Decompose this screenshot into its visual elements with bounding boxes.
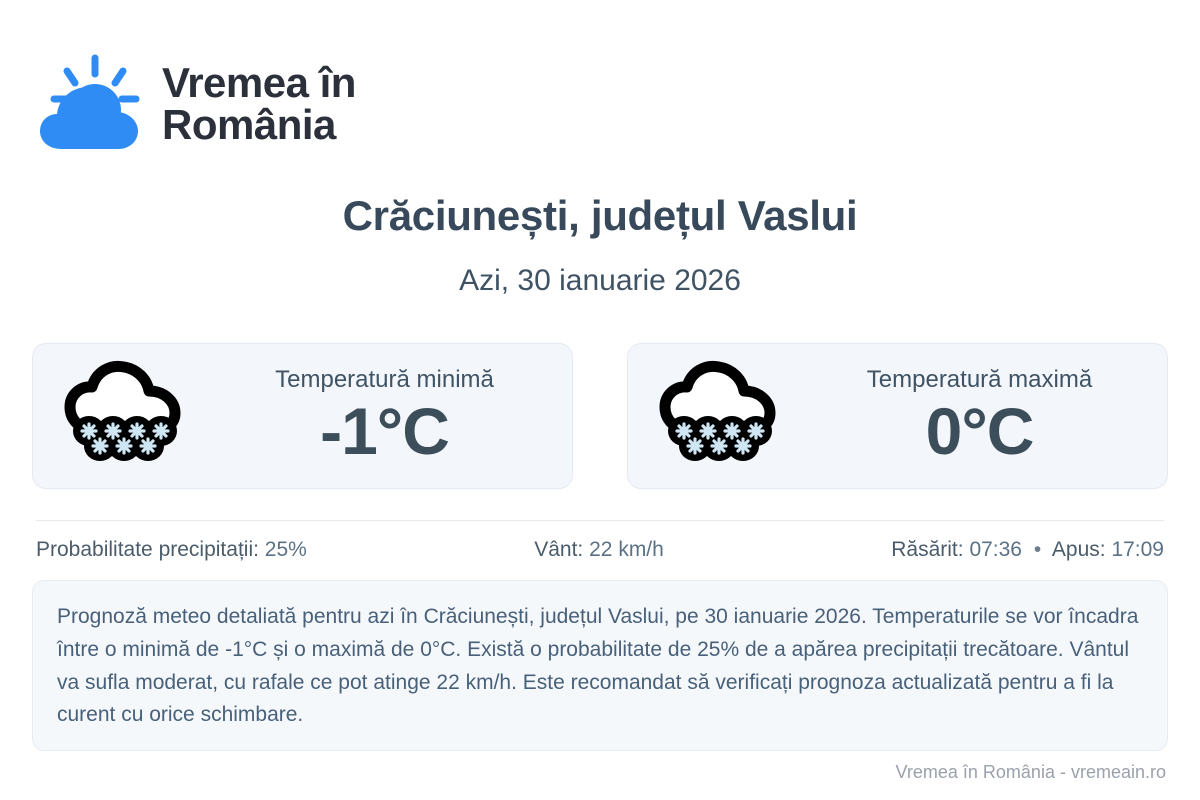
max-temperature-card[interactable]: Temperatură maximă 0°C — [627, 343, 1168, 489]
footer-credit: Vremea în România - vremeain.ro — [896, 762, 1166, 783]
precipitation-label: Probabilitate precipitații: — [36, 538, 259, 561]
snow-cloud-icon — [654, 360, 790, 472]
page-subtitle: Azi, 30 ianuarie 2026 — [0, 264, 1200, 298]
stat-separator: • — [1028, 538, 1047, 561]
wind-stat: Vânt: 22 km/h — [534, 538, 664, 562]
snow-cloud-icon — [59, 360, 195, 472]
stats-divider — [36, 520, 1164, 521]
max-temperature-texts: Temperatură maximă 0°C — [806, 366, 1153, 466]
wind-label: Vânt: — [534, 538, 583, 561]
brand-logo[interactable]: Vremea în România — [36, 52, 356, 156]
brand-name: Vremea în România — [162, 62, 356, 146]
min-temperature-card[interactable]: Temperatură minimă -1°C — [32, 343, 573, 489]
sunset-value: 17:09 — [1111, 538, 1164, 561]
precipitation-value: 25% — [265, 538, 307, 561]
max-temperature-label: Temperatură maximă — [867, 366, 1092, 395]
min-temperature-texts: Temperatură minimă -1°C — [211, 366, 558, 466]
min-temperature-label: Temperatură minimă — [275, 366, 494, 395]
stats-row: Probabilitate precipitații: 25% Vânt: 22… — [36, 538, 1164, 562]
min-temperature-value: -1°C — [320, 397, 449, 466]
sunset-label: Apus: — [1052, 538, 1106, 561]
sun-times-stat: Răsărit: 07:36 • Apus: 17:09 — [891, 538, 1164, 562]
page-title: Crăciunești, județul Vaslui — [0, 192, 1200, 240]
sun-behind-cloud-icon — [36, 52, 144, 156]
temperature-cards: Temperatură minimă -1°C — [32, 343, 1168, 489]
sunrise-value: 07:36 — [969, 538, 1022, 561]
precipitation-stat: Probabilitate precipitații: 25% — [36, 538, 307, 562]
weather-page: Vremea în România Crăciunești, județul V… — [0, 0, 1200, 800]
max-temperature-value: 0°C — [926, 397, 1034, 466]
wind-value: 22 km/h — [589, 538, 664, 561]
sunrise-label: Răsărit: — [891, 538, 963, 561]
forecast-description: Prognoză meteo detaliată pentru azi în C… — [32, 580, 1168, 751]
